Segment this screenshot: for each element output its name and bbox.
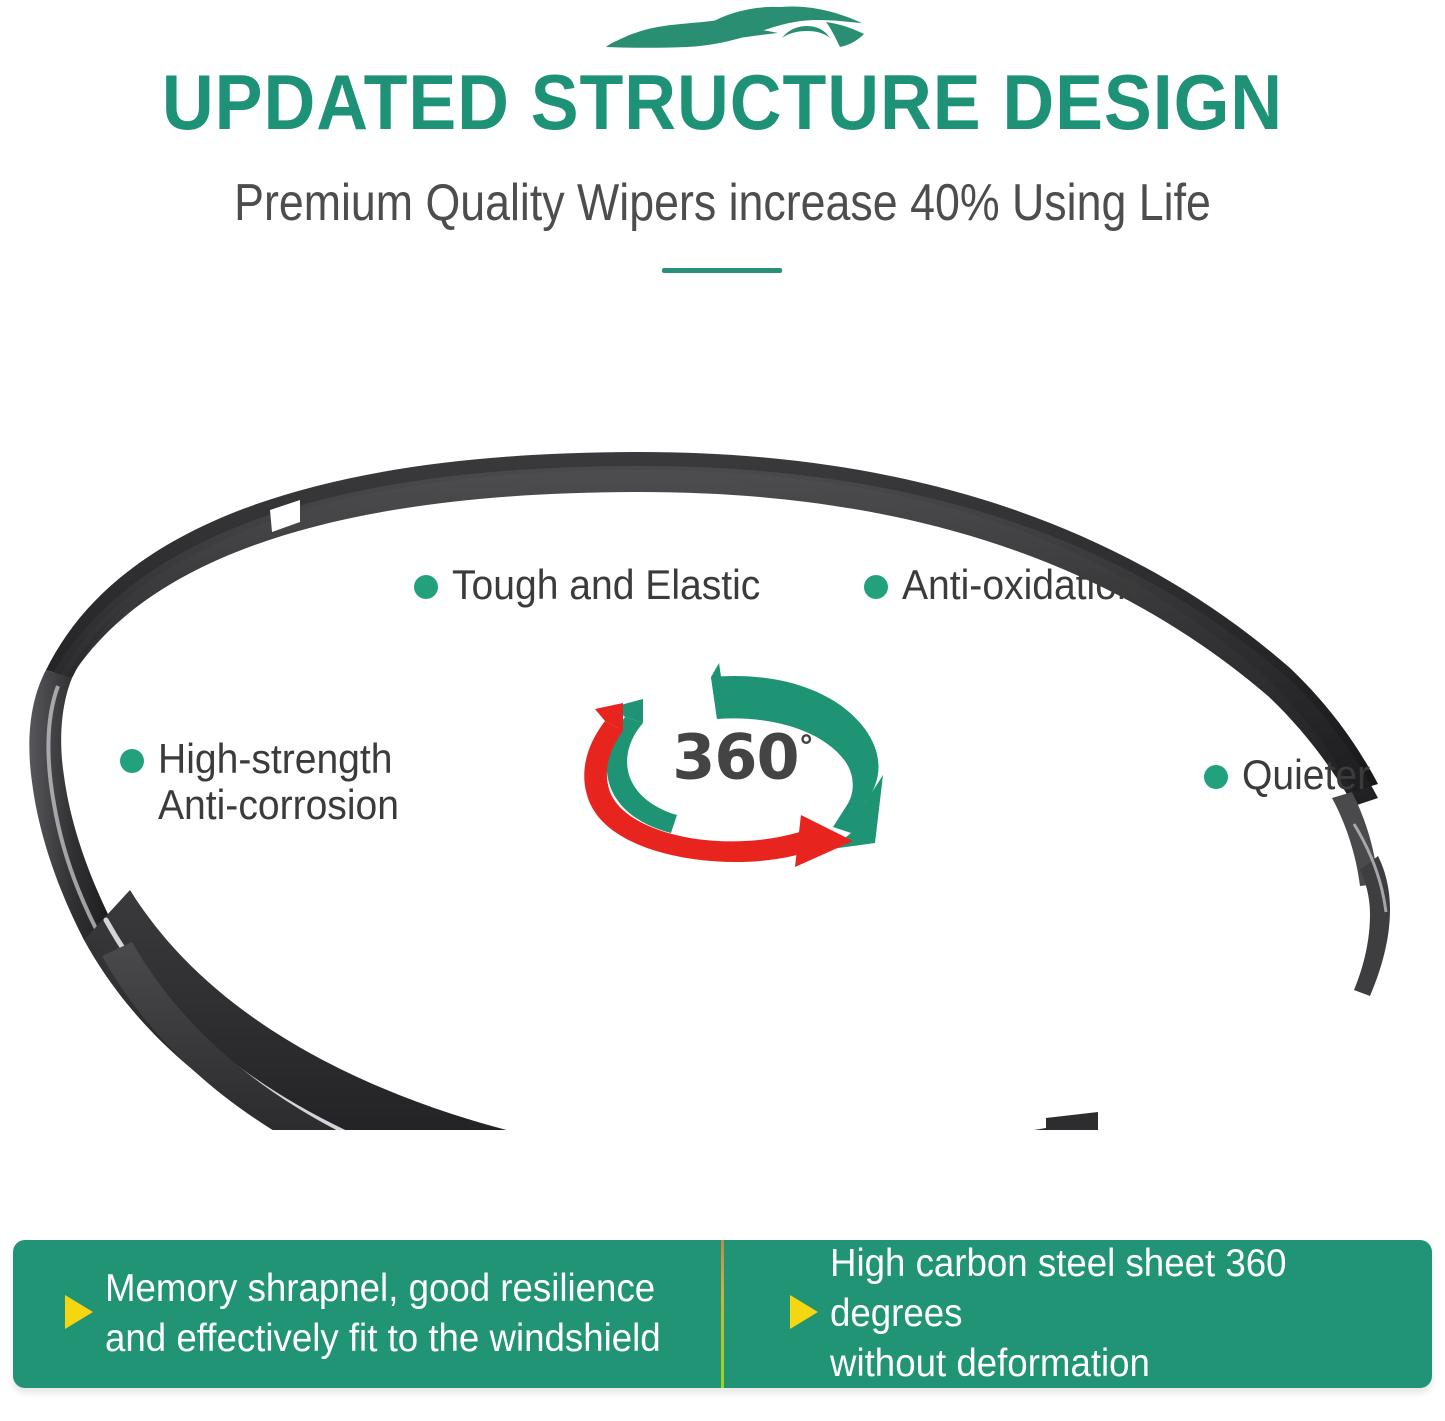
feature-anti-oxidation: Anti-oxidation	[864, 562, 1156, 608]
car-silhouette-icon	[590, 2, 880, 58]
banner-text: Memory shrapnel, good resilience and eff…	[105, 1264, 661, 1364]
degree-symbol-icon: °	[799, 730, 813, 765]
banner-item-high-carbon-steel: High carbon steel sheet 360 degrees with…	[724, 1240, 1432, 1388]
bullet-dot-icon	[864, 575, 888, 599]
feature-label: High-strength Anti-corrosion	[158, 736, 399, 828]
page-title: UPDATED STRUCTURE DESIGN	[58, 58, 1387, 146]
title-underline-rule	[662, 268, 782, 273]
badge-360-label: 360°	[565, 715, 920, 791]
triangle-bullet-icon	[65, 1295, 93, 1329]
feature-label: Anti-oxidation	[902, 562, 1139, 608]
feature-high-strength-anti-corrosion: High-strength Anti-corrosion	[120, 736, 417, 828]
feature-quieter: Quieter	[1204, 752, 1380, 798]
bottom-feature-banner: Memory shrapnel, good resilience and eff…	[13, 1240, 1432, 1388]
bullet-dot-icon	[120, 749, 144, 773]
feature-tough-and-elastic: Tough and Elastic	[414, 562, 784, 608]
bullet-dot-icon	[414, 575, 438, 599]
badge-360-degrees: 360°	[565, 655, 920, 870]
feature-label: Tough and Elastic	[452, 562, 760, 608]
bullet-dot-icon	[1204, 765, 1228, 789]
badge-360-value: 360	[672, 721, 798, 794]
triangle-bullet-icon	[790, 1295, 818, 1329]
banner-item-memory-shrapnel: Memory shrapnel, good resilience and eff…	[13, 1240, 721, 1388]
product-infographic: UPDATED STRUCTURE DESIGN Premium Quality…	[0, 0, 1445, 1421]
feature-label: Quieter	[1242, 752, 1370, 798]
banner-text: High carbon steel sheet 360 degrees with…	[830, 1240, 1396, 1388]
page-subtitle: Premium Quality Wipers increase 40% Usin…	[101, 172, 1344, 234]
